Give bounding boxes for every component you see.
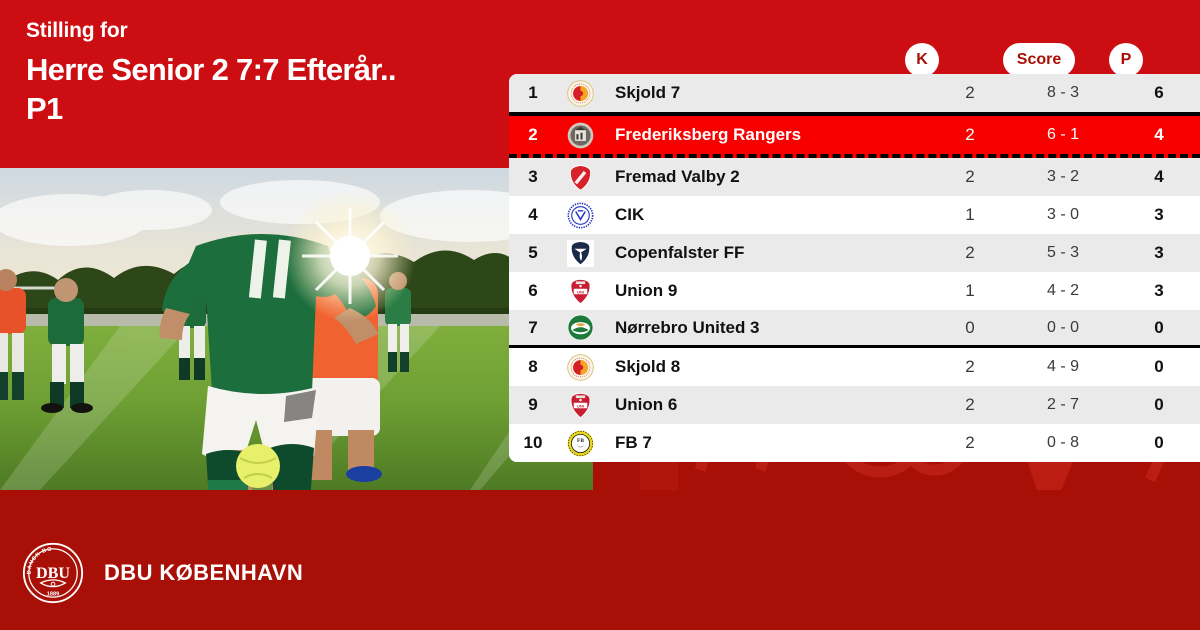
row-score: 0 - 8 bbox=[1008, 434, 1118, 452]
row-team-name: Copenfalster FF bbox=[603, 243, 932, 263]
svg-text:UNI: UNI bbox=[577, 289, 584, 294]
column-header-points: P bbox=[1109, 43, 1143, 77]
football-scene-illustration bbox=[0, 168, 593, 490]
row-matches: 2 bbox=[932, 167, 1008, 187]
table-row[interactable]: 1 Skjold 728 - 36 bbox=[509, 74, 1200, 112]
row-rank: 4 bbox=[509, 205, 557, 225]
standings-table: 1 Skjold 728 - 362 Frederiksberg Rangers… bbox=[509, 74, 1200, 462]
svg-text:1889: 1889 bbox=[47, 591, 59, 597]
row-rank: 7 bbox=[509, 318, 557, 338]
header-text-group: Stilling for Herre Senior 2 7:7 Efterår.… bbox=[26, 18, 496, 128]
row-matches: 2 bbox=[932, 83, 1008, 103]
column-header-score: Score bbox=[1003, 43, 1075, 77]
table-row[interactable]: 7 Nørrebro United 300 - 00 bbox=[509, 310, 1200, 348]
norrebro-united-logo bbox=[557, 314, 603, 341]
row-score: 6 - 1 bbox=[1008, 126, 1118, 144]
row-points: 3 bbox=[1118, 281, 1200, 301]
row-score: 4 - 2 bbox=[1008, 282, 1118, 300]
skjold-logo bbox=[557, 80, 603, 107]
row-points: 0 bbox=[1118, 318, 1200, 338]
rangers-logo bbox=[557, 122, 603, 149]
row-rank: 3 bbox=[509, 167, 557, 187]
row-rank: 9 bbox=[509, 395, 557, 415]
row-matches: 1 bbox=[932, 281, 1008, 301]
table-row[interactable]: 10 FB FB 720 - 80 bbox=[509, 424, 1200, 462]
row-points: 4 bbox=[1118, 125, 1200, 145]
row-rank: 2 bbox=[509, 125, 557, 145]
table-row[interactable]: 8 Skjold 824 - 90 bbox=[509, 348, 1200, 386]
row-team-name: Union 6 bbox=[603, 395, 932, 415]
table-row[interactable]: 9 UNIUnion 622 - 70 bbox=[509, 386, 1200, 424]
row-matches: 1 bbox=[932, 205, 1008, 225]
page-title: Herre Senior 2 7:7 Efterår.. P1 bbox=[26, 50, 496, 128]
row-matches: 2 bbox=[932, 125, 1008, 145]
row-score: 5 - 3 bbox=[1008, 244, 1118, 262]
row-score: 0 - 0 bbox=[1008, 319, 1118, 337]
row-points: 3 bbox=[1118, 243, 1200, 263]
row-rank: 5 bbox=[509, 243, 557, 263]
cik-logo bbox=[557, 202, 603, 229]
row-rank: 10 bbox=[509, 433, 557, 453]
fremad-valby-logo bbox=[557, 164, 603, 191]
row-score: 3 - 2 bbox=[1008, 168, 1118, 186]
row-matches: 0 bbox=[932, 318, 1008, 338]
row-team-name: Union 9 bbox=[603, 281, 932, 301]
row-points: 0 bbox=[1118, 395, 1200, 415]
row-team-name: FB 7 bbox=[603, 433, 932, 453]
row-team-name: Skjold 8 bbox=[603, 357, 932, 377]
copenfalster-logo bbox=[557, 240, 603, 267]
row-score: 3 - 0 bbox=[1008, 206, 1118, 224]
row-rank: 8 bbox=[509, 357, 557, 377]
row-team-name: Frederiksberg Rangers bbox=[603, 125, 932, 145]
row-team-name: Fremad Valby 2 bbox=[603, 167, 932, 187]
row-team-name: Skjold 7 bbox=[603, 83, 932, 103]
table-row[interactable]: 2 Frederiksberg Rangers26 - 14 bbox=[509, 112, 1200, 158]
row-rank: 1 bbox=[509, 83, 557, 103]
row-points: 0 bbox=[1118, 357, 1200, 377]
table-row[interactable]: 3 Fremad Valby 223 - 24 bbox=[509, 158, 1200, 196]
row-matches: 2 bbox=[932, 357, 1008, 377]
row-matches: 2 bbox=[932, 433, 1008, 453]
row-points: 6 bbox=[1118, 83, 1200, 103]
row-points: 0 bbox=[1118, 433, 1200, 453]
organisation-name: DBU KØBENHAVN bbox=[104, 560, 303, 586]
row-team-name: Nørrebro United 3 bbox=[603, 318, 932, 338]
column-header-matches: K bbox=[905, 43, 939, 77]
table-row[interactable]: 6 UNIUnion 914 - 23 bbox=[509, 272, 1200, 310]
row-score: 2 - 7 bbox=[1008, 396, 1118, 414]
row-score: 8 - 3 bbox=[1008, 84, 1118, 102]
footer: DANSK BOLDSPIL UNION DBU 1889 DBU KØBENH… bbox=[22, 542, 303, 604]
hero-photo bbox=[0, 168, 593, 490]
row-score: 4 - 9 bbox=[1008, 358, 1118, 376]
row-rank: 6 bbox=[509, 281, 557, 301]
table-row[interactable]: 4 CIK13 - 03 bbox=[509, 196, 1200, 234]
row-matches: 2 bbox=[932, 395, 1008, 415]
row-matches: 2 bbox=[932, 243, 1008, 263]
table-header-pills: K Score P bbox=[509, 43, 1200, 77]
union-logo: UNI bbox=[557, 392, 603, 419]
row-points: 4 bbox=[1118, 167, 1200, 187]
dbu-logo-icon: DANSK BOLDSPIL UNION DBU 1889 bbox=[22, 542, 84, 604]
standings-graphic: Stilling for Herre Senior 2 7:7 Efterår.… bbox=[0, 0, 1200, 630]
table-row[interactable]: 5 Copenfalster FF25 - 33 bbox=[509, 234, 1200, 272]
skjold-logo bbox=[557, 354, 603, 381]
svg-text:FB: FB bbox=[577, 438, 584, 444]
page-kicker: Stilling for bbox=[26, 18, 496, 44]
svg-text:UNI: UNI bbox=[577, 403, 584, 408]
union-logo: UNI bbox=[557, 278, 603, 305]
fb-logo: FB bbox=[557, 430, 603, 457]
row-team-name: CIK bbox=[603, 205, 932, 225]
row-points: 3 bbox=[1118, 205, 1200, 225]
